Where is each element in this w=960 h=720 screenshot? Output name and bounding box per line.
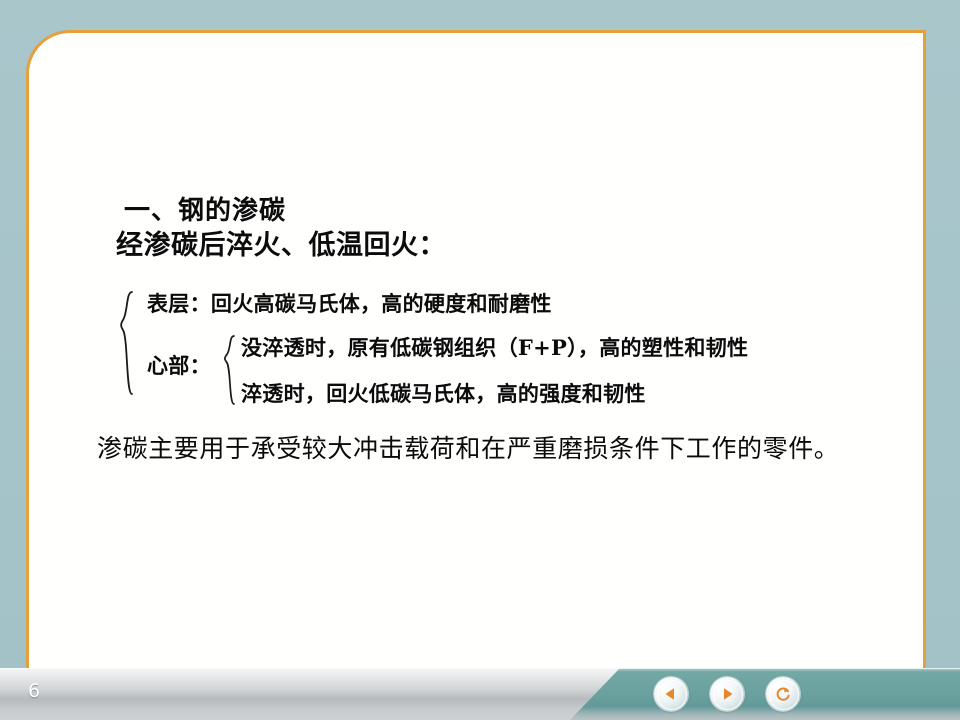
slide-content: 一、钢的渗碳 经渗碳后淬火、低温回火： 表层：回火高碳马氏体，高的硬度和耐磨性 … <box>29 33 923 669</box>
navigation-buttons <box>654 677 800 711</box>
core-label-text: 心部： <box>147 353 211 378</box>
core-line-2-text: 淬透时，回火低碳马氏体，高的强度和韧性 <box>241 381 646 406</box>
core-line-1-text: 没淬透时，原有低碳钢组织（F+P），高的塑性和韧性 <box>241 335 748 360</box>
core-row-hardened: 淬透时，回火低碳马氏体，高的强度和韧性 <box>241 378 646 408</box>
heading-secondary: 经渗碳后淬火、低温回火： <box>116 226 446 266</box>
triangle-left-icon <box>663 686 679 702</box>
next-slide-button[interactable] <box>710 677 744 711</box>
surface-layer-text: 表层：回火高碳马氏体，高的硬度和耐磨性 <box>147 291 552 316</box>
bottom-bar-top-edge <box>0 668 960 669</box>
card-right-border <box>923 30 926 670</box>
bottom-bar: 6 <box>0 668 960 720</box>
previous-slide-button[interactable] <box>654 677 688 711</box>
closing-paragraph: 渗碳主要用于承受较大冲击载荷和在严重磨损条件下工作的零件。 <box>51 430 921 467</box>
heading-primary: 一、钢的渗碳 <box>124 196 446 226</box>
triangle-right-icon <box>719 686 735 702</box>
heading-block: 一、钢的渗碳 经渗碳后淬火、低温回火： <box>124 196 446 266</box>
page-number: 6 <box>28 680 40 702</box>
core-brace-icon <box>223 334 237 406</box>
replay-button[interactable] <box>766 677 800 711</box>
outer-brace-icon <box>119 290 135 396</box>
core-row-not-hardened: 没淬透时，原有低碳钢组织（F+P），高的塑性和韧性 <box>241 332 748 362</box>
presentation-slide: 一、钢的渗碳 经渗碳后淬火、低温回火： 表层：回火高碳马氏体，高的硬度和耐磨性 … <box>0 0 960 720</box>
core-label: 心部： <box>147 350 211 380</box>
circular-arrow-icon <box>774 685 792 703</box>
surface-row: 表层：回火高碳马氏体，高的硬度和耐磨性 <box>147 288 552 318</box>
